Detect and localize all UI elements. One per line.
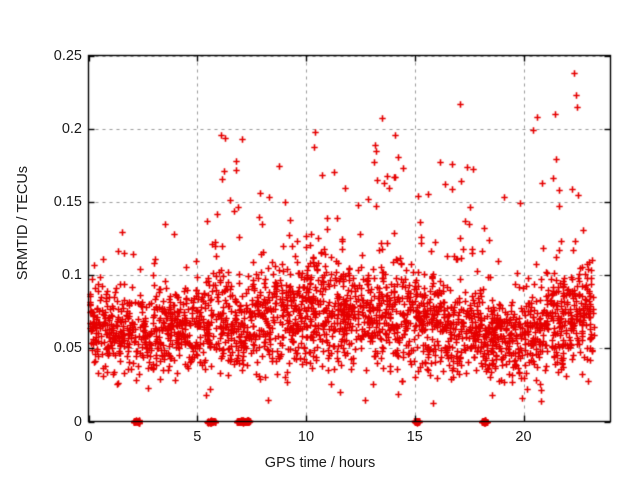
x-tick-label: 5	[193, 429, 201, 445]
y-tick-label: 0.05	[10, 340, 82, 356]
x-axis-label: GPS time / hours	[0, 455, 640, 471]
x-tick-label: 10	[298, 429, 314, 445]
y-tick-label: 0.2	[10, 121, 82, 137]
x-tick-label: 15	[407, 429, 423, 445]
scatter-plot-figure: Day 146 of 2021, SRMTID for receiver av0…	[0, 0, 640, 480]
y-axis-label: SRMTID / TECUs	[15, 138, 31, 308]
x-tick-label: 20	[515, 429, 531, 445]
y-tick-label: 0	[10, 414, 82, 430]
y-tick-label: 0.25	[10, 48, 82, 64]
plot-canvas	[0, 0, 640, 480]
x-tick-label: 0	[84, 429, 92, 445]
